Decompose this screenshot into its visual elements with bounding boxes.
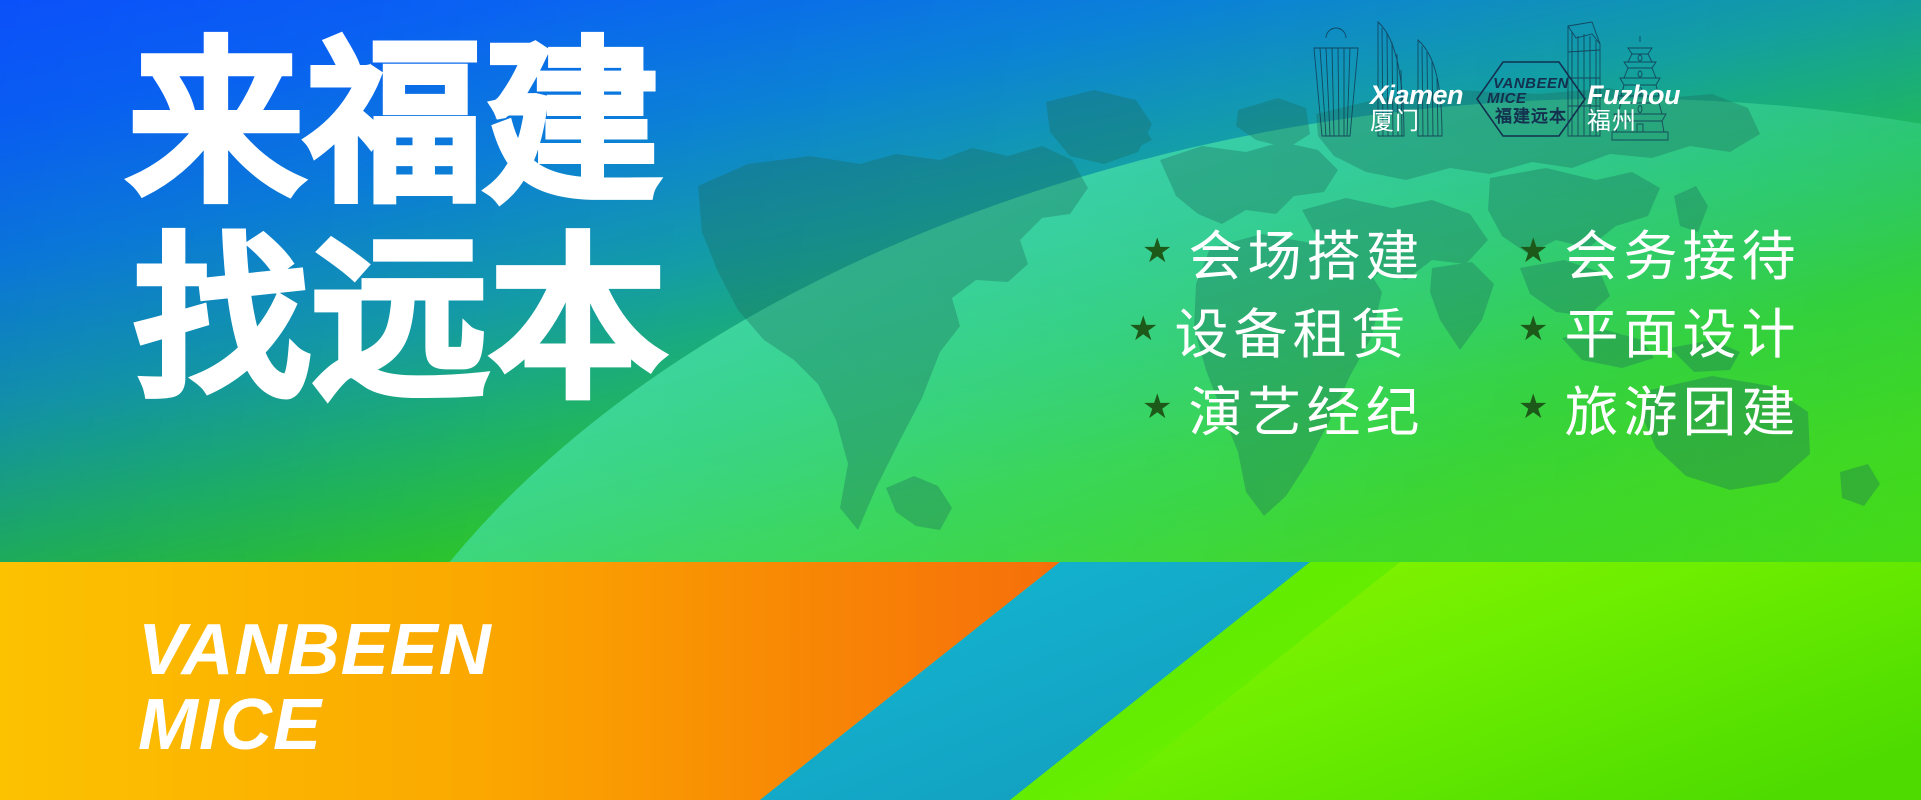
banner-main-area: 来福建 找远本 — [0, 0, 1921, 562]
service-item: ★ 会务接待 — [1518, 212, 1908, 291]
hex-badge-en-line1: VANBEEN — [1493, 76, 1569, 91]
service-item: ★ 旅游团建 — [1518, 368, 1908, 447]
brandmark-vanbeen-mice: VANBEEN MICE — [138, 616, 492, 760]
city-label-fuzhou: Fuzhou 福州 — [1587, 82, 1680, 134]
service-item: ★ 设备租赁 — [1128, 290, 1518, 369]
brandmark-line-2: MICE — [138, 691, 492, 760]
service-item: ★ 演艺经纪 — [1128, 368, 1518, 447]
services-list: ★ 会场搭建 ★ 会务接待 ★ 设备租赁 ★ 平面设计 — [1128, 212, 1908, 446]
city-name-cn-fuzhou: 福州 — [1587, 110, 1680, 134]
city-name-cn-xiamen: 厦门 — [1370, 110, 1463, 134]
brandmark-line-1: VANBEEN — [138, 616, 492, 685]
service-label: 会场搭建 — [1188, 212, 1424, 291]
city-name-en-fuzhou: Fuzhou — [1587, 82, 1680, 110]
service-label: 会务接待 — [1564, 212, 1800, 291]
xiamen-lantern-icon — [1314, 28, 1358, 136]
hex-badge-text: VANBEEN MICE 福建远本 — [1475, 60, 1587, 138]
service-label: 旅游团建 — [1564, 368, 1800, 447]
services-row: ★ 演艺经纪 ★ 旅游团建 — [1128, 368, 1908, 446]
service-label: 演艺经纪 — [1188, 368, 1424, 447]
services-row: ★ 设备租赁 ★ 平面设计 — [1128, 290, 1908, 368]
hex-badge-cn: 福建远本 — [1495, 108, 1567, 125]
star-icon: ★ — [1518, 312, 1548, 346]
star-icon: ★ — [1518, 390, 1548, 424]
star-icon: ★ — [1518, 234, 1548, 268]
banner-bottom-bar: VANBEEN MICE — [0, 562, 1921, 800]
headline: 来福建 找远本 — [128, 38, 728, 408]
service-item: ★ 平面设计 — [1518, 290, 1908, 369]
service-label: 设备租赁 — [1174, 290, 1410, 369]
service-item: ★ 会场搭建 — [1128, 212, 1518, 291]
city-name-en-xiamen: Xiamen — [1370, 82, 1463, 110]
services-row: ★ 会场搭建 ★ 会务接待 — [1128, 212, 1908, 290]
city-label-xiamen: Xiamen 厦门 — [1370, 82, 1463, 134]
city-brand-lockup: Xiamen 厦门 VANBEEN MICE 福建远本 Fuzhou 福州 — [1300, 8, 1720, 168]
star-icon: ★ — [1142, 234, 1172, 268]
hex-badge-en-line2: MICE — [1487, 91, 1527, 106]
star-icon: ★ — [1128, 312, 1158, 346]
promotional-banner: 来福建 找远本 — [0, 0, 1921, 800]
vanbeen-hex-badge: VANBEEN MICE 福建远本 — [1475, 60, 1587, 138]
service-label: 平面设计 — [1564, 290, 1800, 369]
headline-line-1: 来福建 — [128, 38, 728, 212]
star-icon: ★ — [1142, 390, 1172, 424]
headline-line-2: 找远本 — [134, 234, 728, 408]
